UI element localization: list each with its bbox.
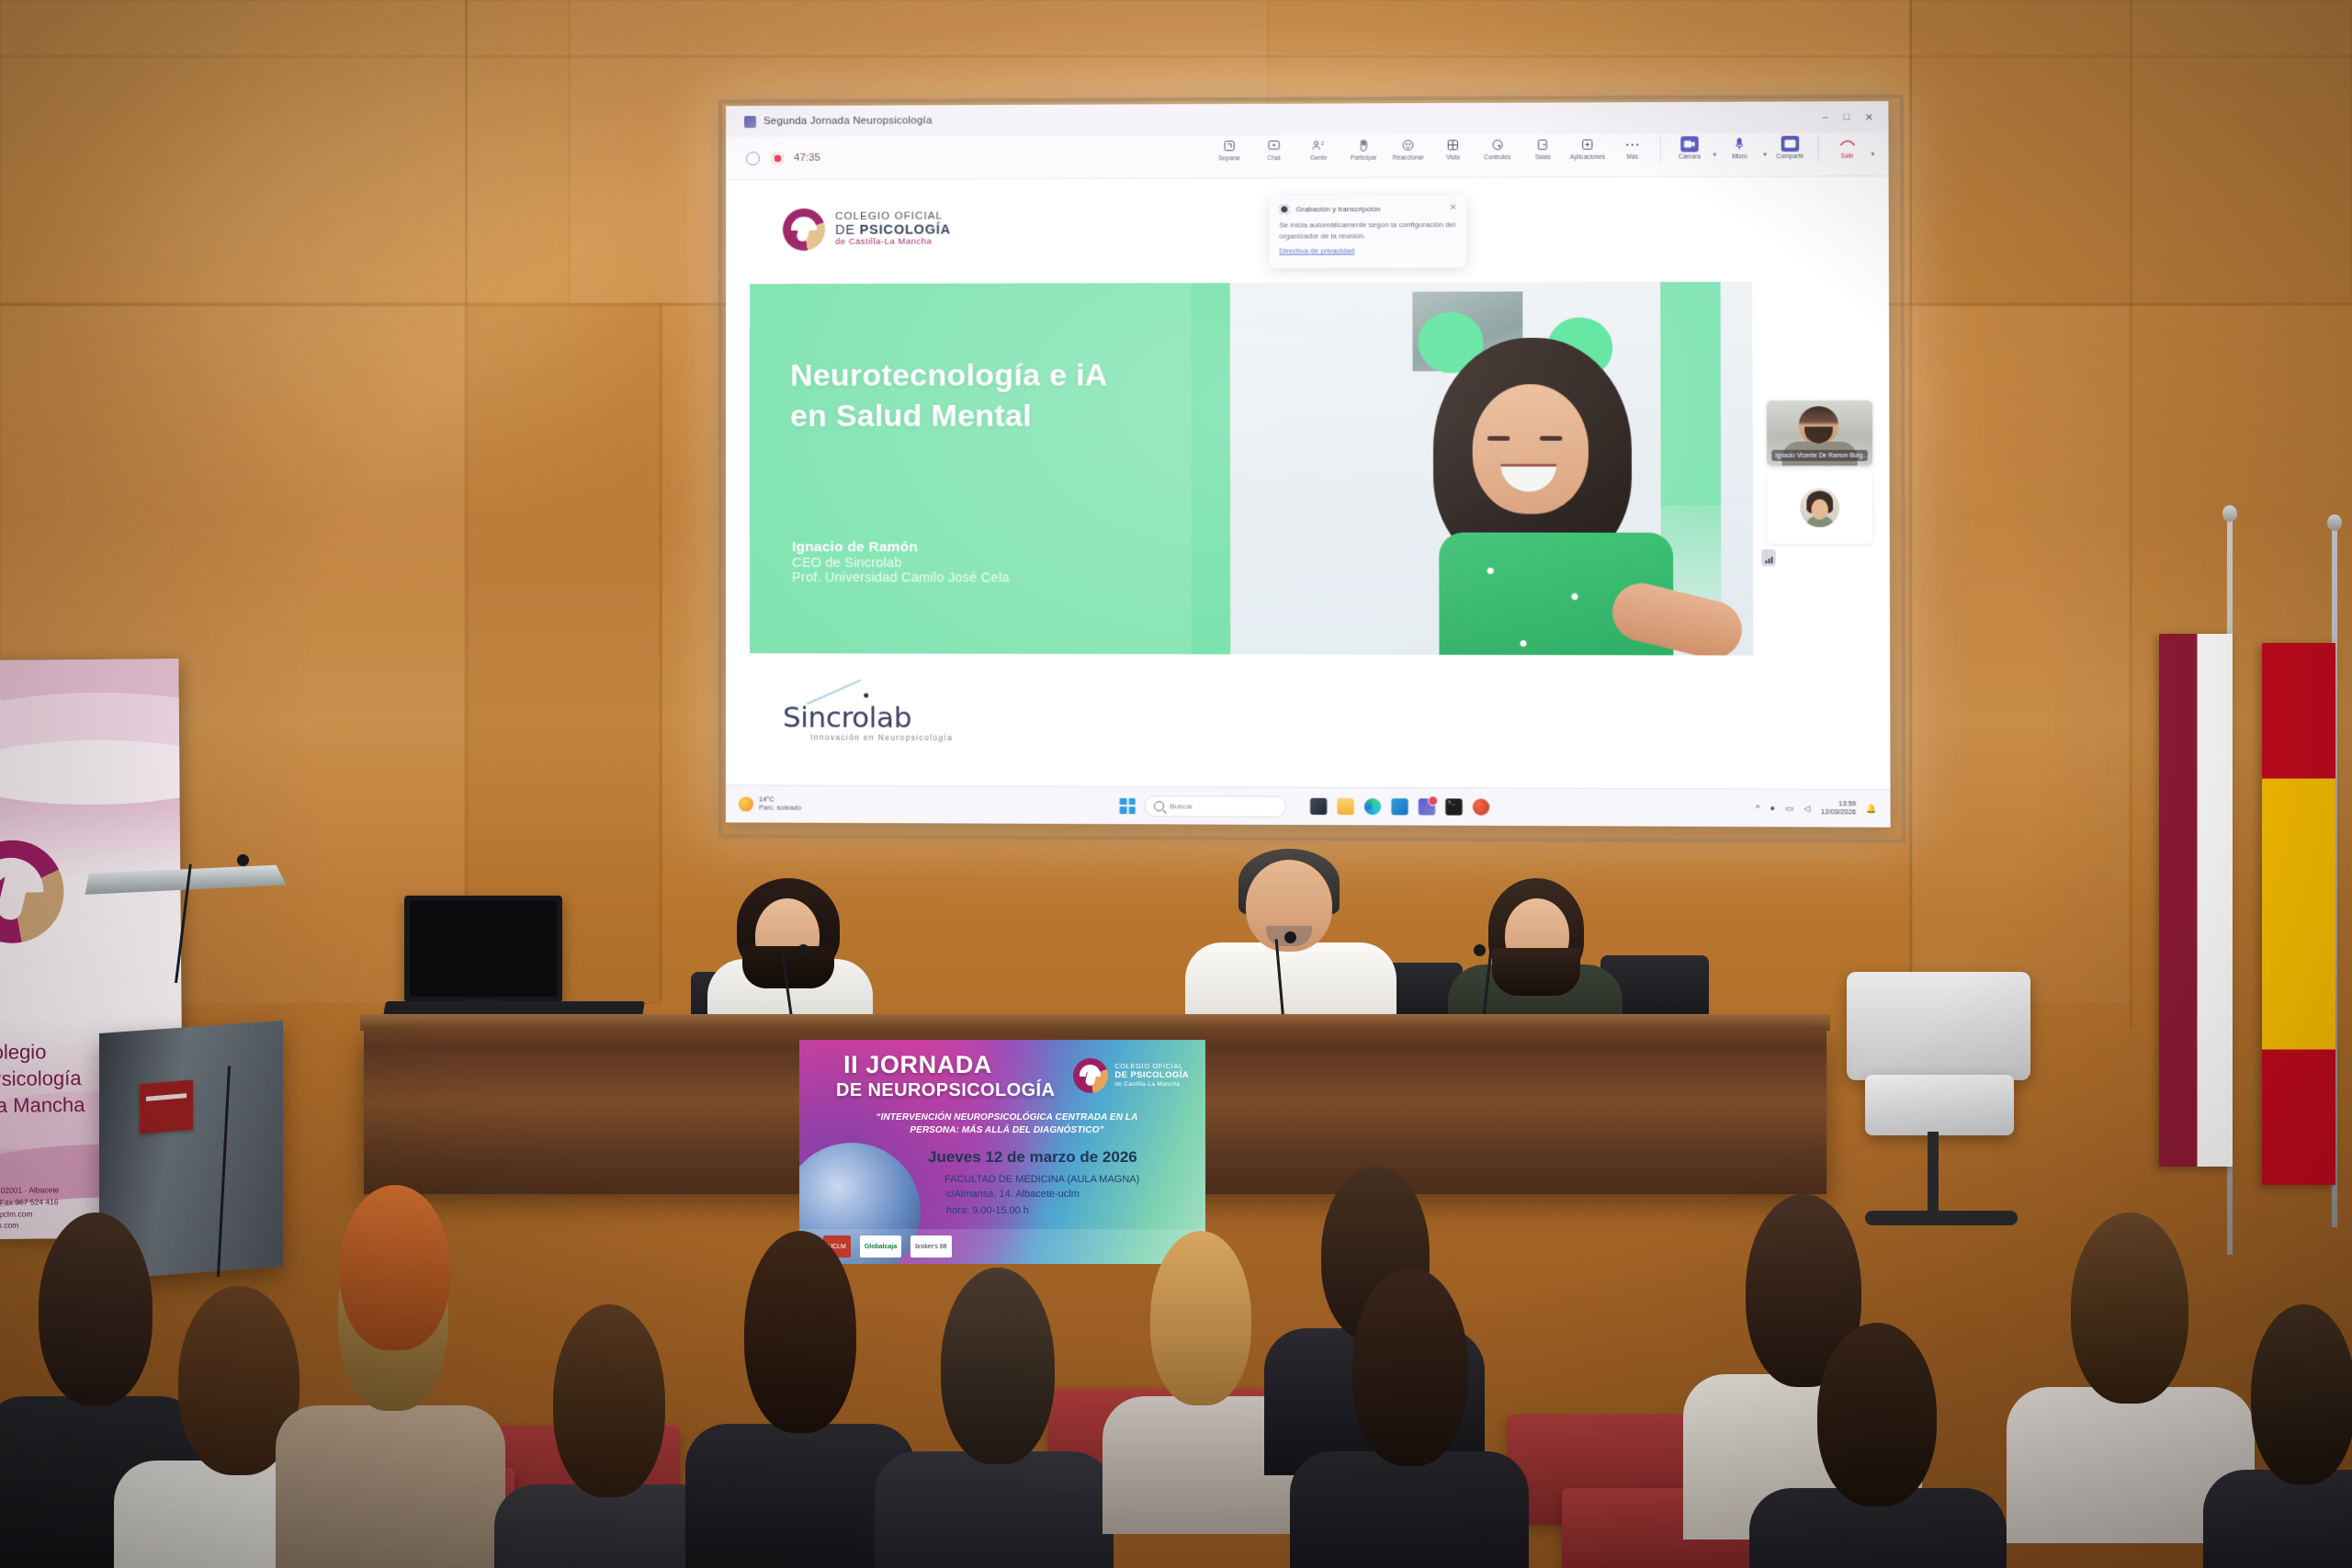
hang-up-icon — [1839, 136, 1855, 152]
org-logo-line1: COLEGIO OFICIAL — [835, 211, 951, 223]
taskbar-apps[interactable] — [1310, 798, 1489, 816]
sincrolab-logo-dot — [864, 694, 868, 698]
file-explorer-icon[interactable] — [1337, 798, 1353, 815]
teams-icon[interactable] — [1419, 798, 1435, 815]
toolbar-label: Gente — [1310, 155, 1327, 162]
detach-icon — [1221, 138, 1237, 153]
projected-teams-window[interactable]: Segunda Jornada Neuropsicología – □ ✕ 47… — [726, 101, 1891, 828]
slide-title: Neurotecnología e iA en Salud Mental — [790, 355, 1187, 436]
audience-member — [1773, 1323, 1975, 1568]
org-logo-line2-bold: PSICOLOGÍA — [860, 222, 951, 237]
audience-member — [900, 1268, 1084, 1568]
event-title-line2: DE NEUROPSICOLOGÍA — [836, 1080, 1055, 1101]
share-label: Compartir — [1776, 153, 1804, 160]
recording-toast[interactable]: Grabación y transcripción ✕ Se inicia au… — [1269, 196, 1466, 268]
people-icon: 2 — [1311, 138, 1327, 153]
toolbar-label: Participar — [1351, 155, 1376, 162]
audience-member — [1314, 1268, 1498, 1568]
microphone-icon — [1732, 136, 1747, 152]
spain-flag — [2262, 643, 2335, 1185]
clock-date: 12/03/2026 — [1821, 808, 1857, 817]
weather-description: Parc. soleado — [759, 804, 801, 812]
microsoft-store-icon[interactable] — [1391, 798, 1408, 815]
sponsor-brokers88: broker's 88 — [910, 1235, 951, 1258]
meeting-status-icon — [746, 152, 760, 165]
apps-plus-icon — [1579, 137, 1595, 152]
author-name: Ignacio de Ramón — [792, 539, 1180, 556]
microphone-chevron-down-icon[interactable]: ▾ — [1763, 151, 1767, 158]
system-tray[interactable]: ^ ● ▭ ◁ 13:59 12/03/2026 🔔 — [1756, 800, 1891, 817]
event-title-line1: II JORNADA — [843, 1051, 992, 1079]
taskbar-clock[interactable]: 13:59 12/03/2026 — [1821, 800, 1857, 817]
toast-body: Se inicia automáticamente según la confi… — [1279, 220, 1456, 242]
toolbar-item-mas[interactable]: ⋯ Más — [1610, 133, 1655, 160]
panelist-left-hair-front — [742, 946, 834, 988]
network-quality-icon[interactable] — [1761, 549, 1775, 566]
toolbar-item-participar[interactable]: Participar — [1340, 135, 1385, 162]
copclm-logo-icon — [0, 840, 64, 943]
toolbar-item-gente[interactable]: 2 Gente — [1296, 135, 1341, 162]
minimize-icon[interactable]: – — [1823, 111, 1828, 123]
show-hidden-icons-icon[interactable]: ^ — [1756, 804, 1759, 813]
panelist-right-hair-front — [1492, 948, 1580, 996]
panelist-center — [1185, 854, 1396, 1038]
share-screen-icon — [1781, 136, 1799, 152]
castilla-la-mancha-flag — [2159, 634, 2233, 1167]
participant-avatar-tile[interactable] — [1767, 471, 1872, 544]
audience-member — [2223, 1304, 2352, 1568]
audience-member — [1121, 1231, 1277, 1461]
event-subtitle: “INTERVENCIÓN NEUROPSICOLÓGICA CENTRADA … — [865, 1111, 1148, 1137]
search-icon — [1154, 801, 1164, 811]
podium-microphone-head — [237, 854, 249, 866]
display-tray-icon[interactable]: ▭ — [1785, 803, 1793, 813]
org-logo-line2-prefix: DE — [835, 223, 855, 238]
sincrolab-logo: Sincrolab Innovación en Neuropsicología — [783, 701, 953, 742]
event-logo-line3: de Castilla-La Mancha — [1114, 1081, 1189, 1088]
search-input[interactable]: Buscar — [1145, 795, 1286, 818]
camera-label: Cámara — [1679, 154, 1701, 161]
chat-icon — [1266, 138, 1282, 153]
audience-member — [303, 1185, 469, 1369]
participant-name: Ignacio Vicente De Ramon Burg... — [1775, 452, 1868, 458]
record-icon — [1279, 204, 1289, 214]
notifications-icon[interactable]: 🔔 — [1867, 804, 1878, 814]
slide-photo — [1230, 282, 1754, 656]
participant-rail: Ignacio Vicente De Ramon Burg... 📌 — [1757, 181, 1883, 766]
audience-member — [514, 1304, 698, 1568]
table-microphone-right-head — [1474, 944, 1486, 956]
more-dots-icon: ⋯ — [1624, 137, 1640, 152]
event-venue: FACULTAD DE MEDICINA (AULA MAGNA) — [944, 1174, 1139, 1185]
photo-child — [1390, 313, 1728, 655]
chair-column — [1928, 1132, 1939, 1216]
slide-accent-panel — [750, 283, 1192, 654]
windows-start-icon[interactable] — [1120, 797, 1136, 813]
privacy-policy-link[interactable]: Directiva de privacidad — [1279, 247, 1354, 255]
camera-button[interactable]: Cámara — [1667, 133, 1712, 160]
close-icon[interactable]: ✕ — [1865, 111, 1873, 123]
share-screen-button[interactable]: Compartir — [1768, 133, 1813, 160]
author-role-1: CEO de Sincrolab — [792, 556, 1181, 571]
avatar — [1800, 488, 1839, 527]
toast-title: Grabación y transcripción — [1296, 205, 1381, 213]
avatar-face — [1811, 499, 1828, 519]
leave-label: Salir — [1841, 153, 1854, 160]
audience-member — [707, 1231, 882, 1568]
toolbar-label: Controles — [1485, 154, 1511, 161]
rooms-icon — [1534, 137, 1550, 152]
copclm-logo-icon — [1073, 1058, 1108, 1093]
close-icon[interactable]: ✕ — [1449, 203, 1457, 213]
grid-view-icon — [1445, 137, 1461, 152]
teams-app-icon — [744, 116, 756, 128]
org-logo-line2: DE PSICOLOGÍA — [835, 222, 951, 238]
taskbar-center[interactable]: Buscar — [1120, 795, 1490, 818]
reaction-icon — [1400, 137, 1416, 152]
slide-accent-panel-2 — [1191, 283, 1230, 654]
maximize-icon[interactable]: □ — [1843, 111, 1849, 123]
toolbar-label: Vista — [1446, 155, 1460, 162]
toolbar-item-reaccionar[interactable]: Reaccionar — [1385, 134, 1430, 161]
leave-meeting-button[interactable]: Salir — [1825, 133, 1870, 161]
camera-chevron-down-icon[interactable]: ▾ — [1713, 151, 1717, 158]
toolbar-label: Chat — [1267, 155, 1280, 162]
child-smile — [1500, 464, 1556, 491]
toolbar-label: Separar — [1218, 155, 1240, 162]
shared-slide[interactable]: COLEGIO OFICIAL DE PSICOLOGÍA de Castill… — [750, 182, 1754, 766]
meeting-tab-title[interactable]: Segunda Jornada Neuropsicología — [763, 115, 933, 127]
weather-widget[interactable]: 14°C Parc. soleado — [739, 796, 801, 813]
microphone-label: Micro — [1732, 153, 1747, 160]
table-microphone-left-head — [797, 944, 809, 956]
audience-member — [2030, 1213, 2223, 1506]
toolbar-item-salas[interactable]: Salas — [1520, 134, 1565, 161]
search-placeholder: Buscar — [1170, 802, 1193, 810]
child-eye-right — [1540, 436, 1562, 441]
author-role-2: Prof. Universidad Camilo José Cela — [792, 570, 1181, 586]
conference-hall-scene: Segunda Jornada Neuropsicología – □ ✕ 47… — [0, 0, 2352, 1568]
event-schedule: hora: 9.00-15.00 h — [946, 1205, 1029, 1216]
window-controls[interactable]: – □ ✕ — [1823, 111, 1889, 123]
toast-header: Grabación y transcripción — [1279, 204, 1456, 215]
toolbar-item-controles[interactable]: Controles — [1476, 134, 1521, 161]
powerpoint-icon[interactable] — [1473, 798, 1489, 815]
toolbar-divider — [1660, 137, 1661, 161]
empty-chair-back — [1847, 972, 2030, 1080]
toolbar-divider-2 — [1818, 137, 1819, 161]
svg-text:2: 2 — [1321, 141, 1324, 147]
volume-tray-icon[interactable]: ◁ — [1804, 803, 1810, 813]
stage-monitor — [404, 896, 562, 1002]
microphone-button[interactable]: Micro — [1717, 133, 1762, 160]
slide-title-line1: Neurotecnología e iA — [790, 355, 1187, 396]
toolbar-label: Salas — [1534, 154, 1550, 161]
event-date: Jueves 12 de marzo de 2026 — [928, 1148, 1137, 1167]
teams-toolbar[interactable]: Separar Chat 2 Gente Participar — [1207, 132, 1889, 177]
child-eye-left — [1487, 436, 1510, 441]
recording-timer: 47:35 — [794, 152, 820, 164]
participant-name-label: Ignacio Vicente De Ramon Burg... 📌 — [1771, 450, 1868, 461]
sun-icon — [739, 796, 753, 811]
slide-author-block: Ignacio de Ramón CEO de Sincrolab Prof. … — [792, 539, 1181, 586]
toolbar-label: Reaccionar — [1392, 155, 1423, 162]
slide-title-line2: en Salud Mental — [790, 396, 1187, 437]
table-microphone-center-head — [1284, 931, 1296, 943]
org-logo-line3: de Castilla-La Mancha — [835, 238, 951, 248]
event-address: c/Almansa, 14. Albacete-uclm — [946, 1189, 1080, 1200]
sincrolab-wordmark: Sincrolab — [783, 701, 953, 735]
participant-video-tile[interactable]: Ignacio Vicente De Ramon Burg... 📌 — [1767, 400, 1872, 466]
microphone-tray-icon[interactable]: ● — [1770, 804, 1776, 813]
edge-icon[interactable] — [1364, 798, 1381, 815]
slide-org-logo: COLEGIO OFICIAL DE PSICOLOGÍA de Castill… — [783, 208, 951, 251]
child-face — [1473, 384, 1589, 513]
event-org-logo: COLEGIO OFICIAL DE PSICOLOGÍA de Castill… — [1073, 1058, 1189, 1093]
leave-chevron-down-icon[interactable]: ▾ — [1871, 151, 1875, 158]
podium-plaque — [140, 1079, 193, 1134]
recording-indicator-icon[interactable] — [772, 152, 784, 164]
empty-chair-seat — [1865, 1075, 2014, 1135]
toolbar-label: Más — [1626, 154, 1638, 161]
toolbar-label: Aplicaciones — [1570, 154, 1605, 161]
camera-icon — [1680, 136, 1698, 152]
terminal-icon[interactable] — [1445, 798, 1462, 815]
toolbar-item-separar[interactable]: Separar — [1207, 135, 1252, 162]
copclm-logo-icon — [783, 209, 825, 251]
event-logo-line2: DE PSICOLOGÍA — [1114, 1071, 1189, 1081]
toolbar-item-aplicaciones[interactable]: Aplicaciones — [1565, 134, 1610, 161]
toolbar-item-vista[interactable]: Vista — [1430, 134, 1476, 161]
windows-taskbar[interactable]: 14°C Parc. soleado Buscar — [726, 784, 1891, 827]
controls-icon — [1489, 137, 1505, 152]
toolbar-item-chat[interactable]: Chat — [1251, 135, 1296, 162]
raise-hand-icon — [1355, 138, 1371, 153]
task-view-icon[interactable] — [1310, 798, 1327, 815]
